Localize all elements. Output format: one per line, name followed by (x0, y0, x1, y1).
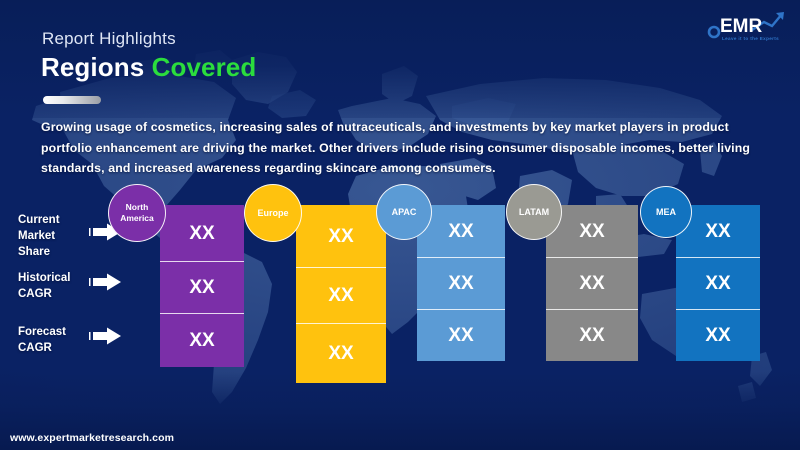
region-bubble-label-line1: Europe (257, 208, 288, 219)
row-arrow-icon-2 (88, 326, 122, 346)
row-label-current-market-share: Current Market Share (18, 212, 98, 260)
region-bubble-label-line1: LATAM (519, 207, 549, 218)
row-label-line1: Forecast (18, 324, 98, 340)
region-column-europe: XXXXXX (296, 205, 386, 383)
row-label-line2: Market (18, 228, 98, 244)
footer-website-url[interactable]: www.expertmarketresearch.com (10, 432, 174, 444)
row-arrow-icon-1 (88, 272, 122, 292)
region-value-cell[interactable]: XX (676, 257, 760, 309)
svg-text:EMR: EMR (720, 16, 763, 37)
row-label-line2: CAGR (18, 286, 98, 302)
region-bubble-latam[interactable]: LATAM (506, 184, 562, 240)
region-bar-stack: XXXXXX (160, 205, 244, 367)
region-value-cell[interactable]: XX (546, 257, 638, 309)
region-bubble-north-america[interactable]: NorthAmerica (108, 184, 166, 242)
highlights-paragraph: Growing usage of cosmetics, increasing s… (41, 117, 763, 179)
region-value-cell[interactable]: XX (546, 309, 638, 361)
region-bubble-label-line1: MEA (656, 207, 676, 218)
page-kicker: Report Highlights (42, 29, 176, 49)
region-bubble-apac[interactable]: APAC (376, 184, 432, 240)
row-label-line1: Historical (18, 270, 98, 286)
row-label-historical-cagr: Historical CAGR (18, 270, 98, 302)
region-value-cell[interactable]: XX (296, 267, 386, 323)
row-label-forecast-cagr: Forecast CAGR (18, 324, 98, 356)
row-label-line1: Current (18, 212, 98, 228)
region-bubble-label-line2: America (120, 213, 154, 224)
region-column-latam: XXXXXX (546, 205, 638, 361)
row-label-line2: CAGR (18, 340, 98, 356)
region-value-cell[interactable]: XX (296, 323, 386, 383)
region-bubble-europe[interactable]: Europe (244, 184, 302, 242)
region-column-apac: XXXXXX (417, 205, 505, 361)
region-bar-stack: XXXXXX (296, 205, 386, 383)
title-underline-rule (43, 96, 101, 104)
region-bar-stack: XXXXXX (676, 205, 760, 361)
page-title: Regions Covered (41, 52, 256, 83)
emr-logo[interactable]: EMR Leave it to the Experts (694, 8, 786, 44)
region-column-mea: XXXXXX (676, 205, 760, 361)
svg-text:Leave it to the Experts: Leave it to the Experts (722, 36, 779, 41)
row-label-line3: Share (18, 244, 98, 260)
region-value-cell[interactable]: XX (160, 313, 244, 367)
region-column-north-america: XXXXXX (160, 205, 244, 367)
region-bar-stack: XXXXXX (417, 205, 505, 361)
region-bubble-label-line1: APAC (392, 207, 417, 218)
region-value-cell[interactable]: XX (296, 205, 386, 267)
region-value-cell[interactable]: XX (160, 261, 244, 313)
region-value-cell[interactable]: XX (417, 309, 505, 361)
page-title-part2: Covered (152, 52, 257, 82)
region-bar-stack: XXXXXX (546, 205, 638, 361)
region-value-cell[interactable]: XX (676, 309, 760, 361)
region-bubble-mea[interactable]: MEA (640, 186, 692, 238)
region-value-cell[interactable]: XX (160, 205, 244, 261)
slide-canvas: Report Highlights Regions Covered EMR Le… (0, 0, 800, 450)
region-value-cell[interactable]: XX (417, 257, 505, 309)
page-title-part1: Regions (41, 52, 144, 82)
region-bubble-label-line1: North (120, 202, 154, 213)
